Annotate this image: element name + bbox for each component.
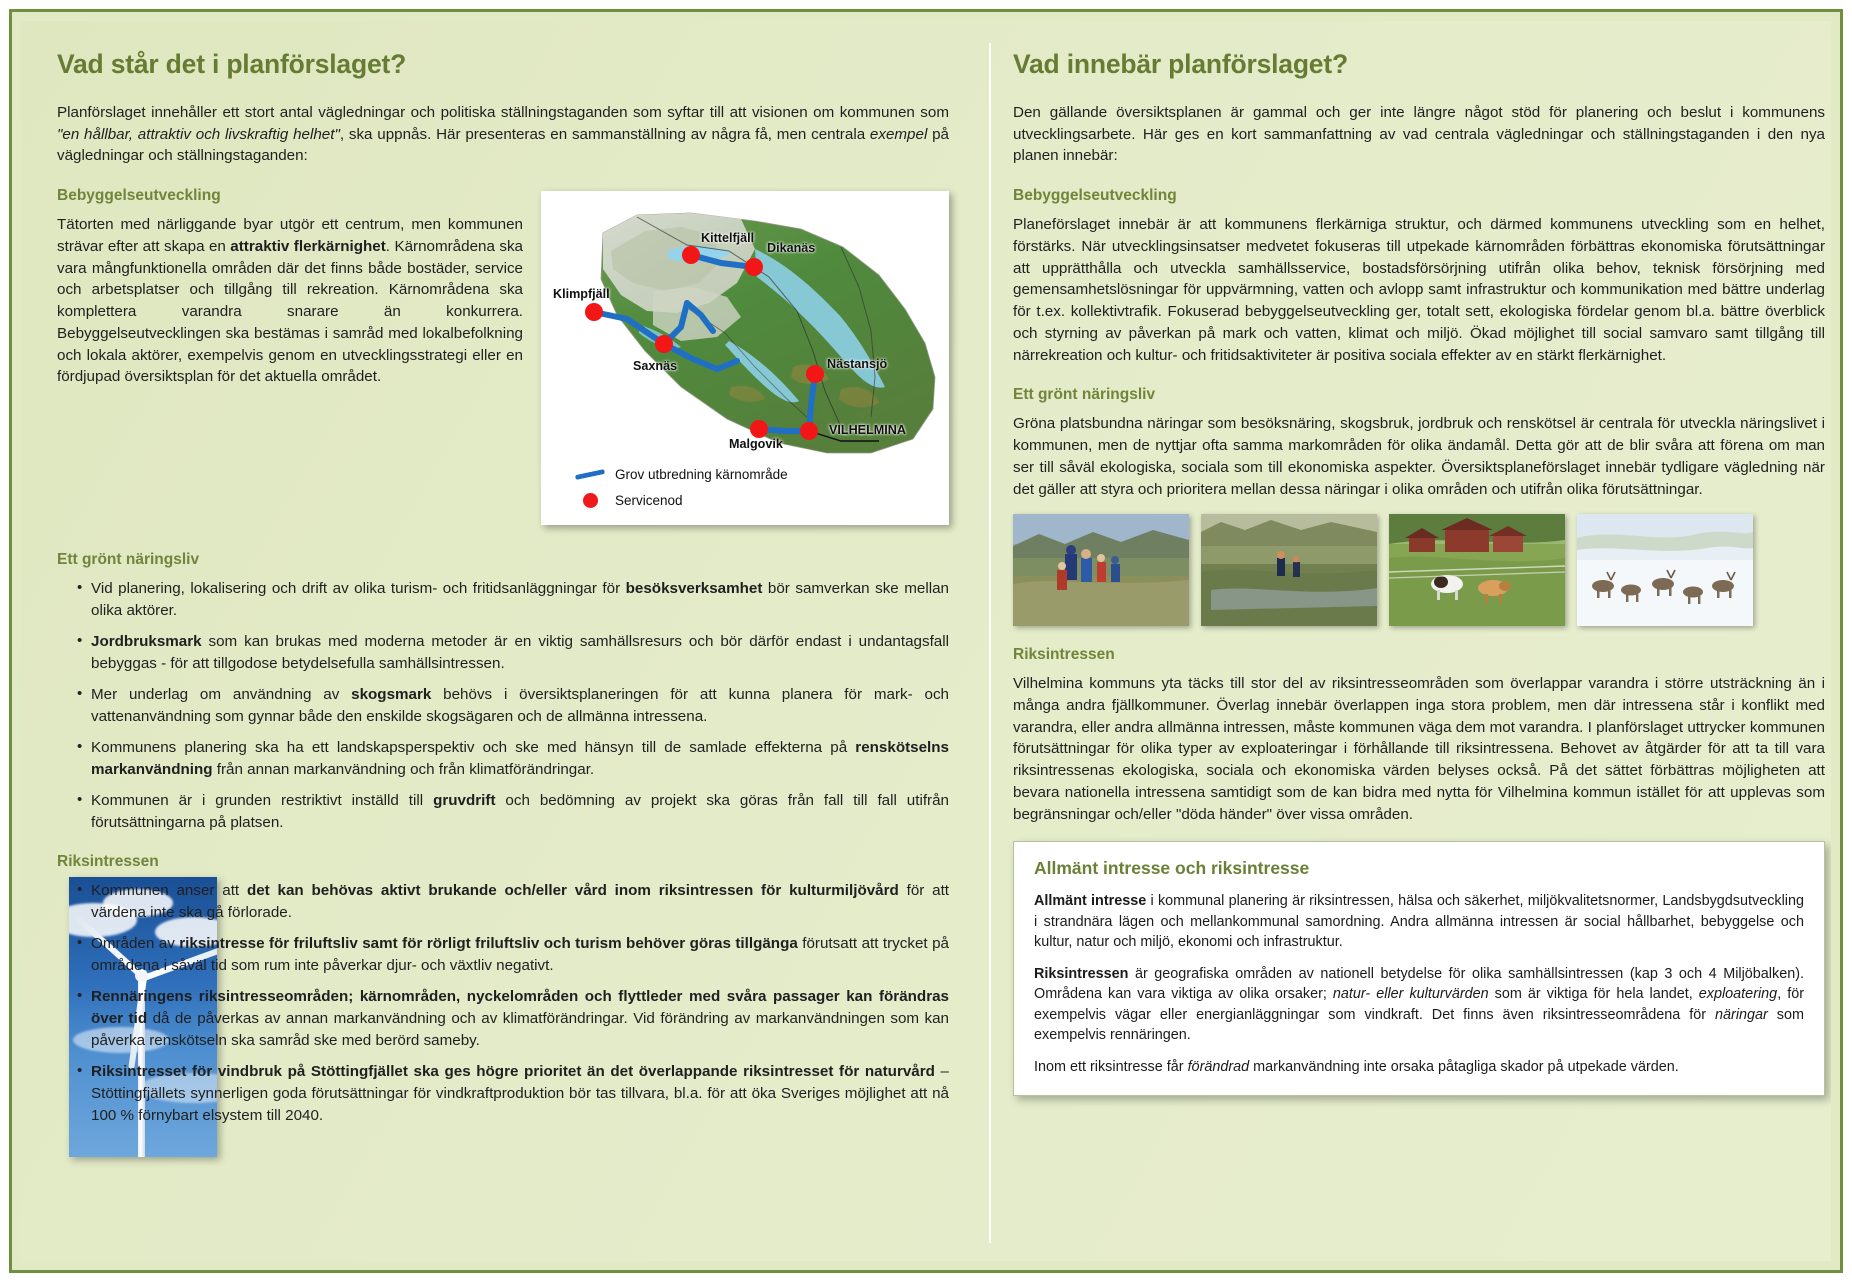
list-item: Jordbruksmark som kan brukas med moderna… xyxy=(77,631,949,675)
bullet-bold: Jordbruksmark xyxy=(91,633,202,650)
left-intro-part1: Planförslaget innehåller ett stort antal… xyxy=(57,104,949,121)
bullet-text: Mer underlag om användning av xyxy=(91,686,351,703)
right-intro-paragraph: Den gällande översiktsplanen är gammal o… xyxy=(1013,102,1825,167)
map-label-kittelfjall: Kittelfjäll xyxy=(701,231,754,245)
left-riksintressen-block: Riksintressen Kommunen anser att det kan… xyxy=(57,853,949,1153)
left-bebyggelse-part2: . Kärnområdena ska vara mångfunktionella… xyxy=(57,238,523,385)
map-label-dikanas: Dikanäs xyxy=(767,241,815,255)
callout-emphasis: natur- eller kulturvärden xyxy=(1333,986,1489,1002)
callout-text: i kommunal planering är riksintressen, h… xyxy=(1034,893,1804,950)
legend-label-core-area: Grov utbredning kärnområde xyxy=(615,467,788,482)
right-section-title: Vad innebär planförslaget? xyxy=(1013,49,1825,80)
bullet-text: Kommunen anser att xyxy=(91,882,247,899)
right-riksintressen-paragraph: Vilhelmina kommuns yta täcks till stor d… xyxy=(1013,673,1825,825)
callout-emphasis: näringar xyxy=(1715,1007,1768,1023)
service-node-dot-icon xyxy=(571,493,609,508)
callout-title: Allmänt intresse och riksintresse xyxy=(1034,858,1804,879)
bullet-text: Kommunens planering ska ha ett landskaps… xyxy=(91,739,855,756)
callout-term-allmant-intresse: Allmänt intresse xyxy=(1034,893,1146,909)
bullet-bold: besöksverksamhet xyxy=(626,580,763,597)
bullet-bold: gruvdrift xyxy=(433,792,495,809)
callout-emphasis: förändrad xyxy=(1188,1059,1250,1075)
list-item: Kommunen är i grunden restriktivt instäl… xyxy=(77,790,949,834)
bullet-text: Kommunen är i grunden restriktivt instäl… xyxy=(91,792,433,809)
left-section-title: Vad står det i planförslaget? xyxy=(57,49,949,80)
callout-term-riksintressen: Riksintressen xyxy=(1034,966,1128,982)
photo-wetland-forestry xyxy=(1201,514,1377,626)
bullet-bold: Riksintresset för vindbruk på Stöttingfj… xyxy=(91,1063,935,1080)
callout-text: Inom ett riksintresse får xyxy=(1034,1059,1188,1075)
callout-paragraph-allmant-intresse: Allmänt intresse i kommunal planering är… xyxy=(1034,891,1804,952)
legend-row-service-node: Servicenod xyxy=(571,487,949,513)
bullet-text: som kan brukas med moderna metoder är en… xyxy=(91,633,949,672)
map-label-vilhelmina: VILHELMINA xyxy=(829,423,906,437)
right-column: Vad innebär planförslaget? Den gällande … xyxy=(999,21,1831,1106)
left-riksintressen-bullet-list: Kommunen anser att det kan behövas aktiv… xyxy=(57,880,949,1127)
list-item: Kommunen anser att det kan behövas aktiv… xyxy=(77,880,949,924)
bullet-text: Områden av xyxy=(91,935,179,952)
left-intro-part2: , ska uppnås. Här presenteras en sammans… xyxy=(340,126,870,143)
callout-text: som är viktiga för hela landet, xyxy=(1489,986,1699,1002)
left-subtitle-riksintressen: Riksintressen xyxy=(57,853,949,871)
left-intro-paragraph: Planförslaget innehåller ett stort antal… xyxy=(57,102,949,167)
left-naringsliv-bullet-list: Vid planering, lokalisering och drift av… xyxy=(57,578,949,834)
legend-row-core-area: Grov utbredning kärnområde xyxy=(571,461,949,487)
left-bebyggelse-bold: attraktiv flerkärnighet xyxy=(230,238,386,255)
right-bebyggelse-paragraph: Planeförslaget innebär är att kommunens … xyxy=(1013,214,1825,366)
right-subtitle-bebyggelseutveckling: Bebyggelseutveckling xyxy=(1013,187,1825,205)
map-label-klimpfjall: Klimpfjäll xyxy=(553,287,610,301)
right-naringsliv-paragraph: Gröna platsbundna näringar som besöksnär… xyxy=(1013,413,1825,500)
bullet-bold: det kan behövas aktivt brukande och/elle… xyxy=(247,882,899,899)
map-label-malgovik: Malgovik xyxy=(729,437,783,451)
list-item: Vid planering, lokalisering och drift av… xyxy=(77,578,949,622)
right-subtitle-riksintressen: Riksintressen xyxy=(1013,646,1825,664)
bullet-text: då de påverkas av annan markanvändning o… xyxy=(91,1010,949,1049)
right-subtitle-gront-naringsliv: Ett grönt näringsliv xyxy=(1013,386,1825,404)
left-intro-vision-quote: "en hållbar, attraktiv och livskraftig h… xyxy=(57,126,340,143)
photo-hikers-by-lake xyxy=(1013,514,1189,626)
bullet-bold: skogsmark xyxy=(351,686,431,703)
map-label-nastansjo: Nästansjö xyxy=(827,357,887,371)
callout-text: markanvändning inte orsaka påtagliga ska… xyxy=(1249,1059,1679,1075)
poster-inner: Vad står det i planförslaget? Planförsla… xyxy=(21,21,1831,1261)
bullet-bold: riksintresse för friluftsliv samt för rö… xyxy=(179,935,798,952)
left-subtitle-gront-naringsliv: Ett grönt näringsliv xyxy=(57,551,949,569)
left-column: Vad står det i planförslaget? Planförsla… xyxy=(21,21,981,1163)
list-item: Kommunens planering ska ha ett landskaps… xyxy=(77,737,949,781)
photo-reindeer-winter xyxy=(1577,514,1753,626)
left-intro-exempel: exempel xyxy=(870,126,927,143)
photo-strip xyxy=(1013,514,1825,626)
map-canvas: Kittelfjäll Dikanäs Klimpfjäll Saxnäs Nä… xyxy=(541,191,949,459)
map-legend: Grov utbredning kärnområde Servicenod xyxy=(541,459,949,525)
legend-label-service-node: Servicenod xyxy=(615,493,683,508)
list-item: Riksintresset för vindbruk på Stöttingfj… xyxy=(77,1061,949,1127)
bullet-text: Vid planering, lokalisering och drift av… xyxy=(91,580,626,597)
callout-box-allmant-intresse: Allmänt intresse och riksintresse Allmän… xyxy=(1013,841,1825,1096)
core-area-line-icon xyxy=(571,472,609,477)
callout-emphasis: exploatering xyxy=(1699,986,1777,1002)
callout-paragraph-forandrad: Inom ett riksintresse får förändrad mark… xyxy=(1034,1057,1804,1077)
list-item: Områden av riksintresse för friluftsliv … xyxy=(77,933,949,977)
poster-page: Vad står det i planförslaget? Planförsla… xyxy=(0,0,1852,1282)
bullet-text: från annan markanvändning och från klima… xyxy=(213,761,595,778)
map-label-saxnas: Saxnäs xyxy=(633,359,677,373)
photo-grazing-cows-farm xyxy=(1389,514,1565,626)
column-divider xyxy=(989,43,991,1243)
list-item: Rennäringens riksintresseområden; kärnom… xyxy=(77,986,949,1052)
core-area-map-figure: Kittelfjäll Dikanäs Klimpfjäll Saxnäs Nä… xyxy=(541,191,949,525)
callout-paragraph-riksintressen: Riksintressen är geografiska områden av … xyxy=(1034,964,1804,1046)
list-item: Mer underlag om användning av skogsmark … xyxy=(77,684,949,728)
